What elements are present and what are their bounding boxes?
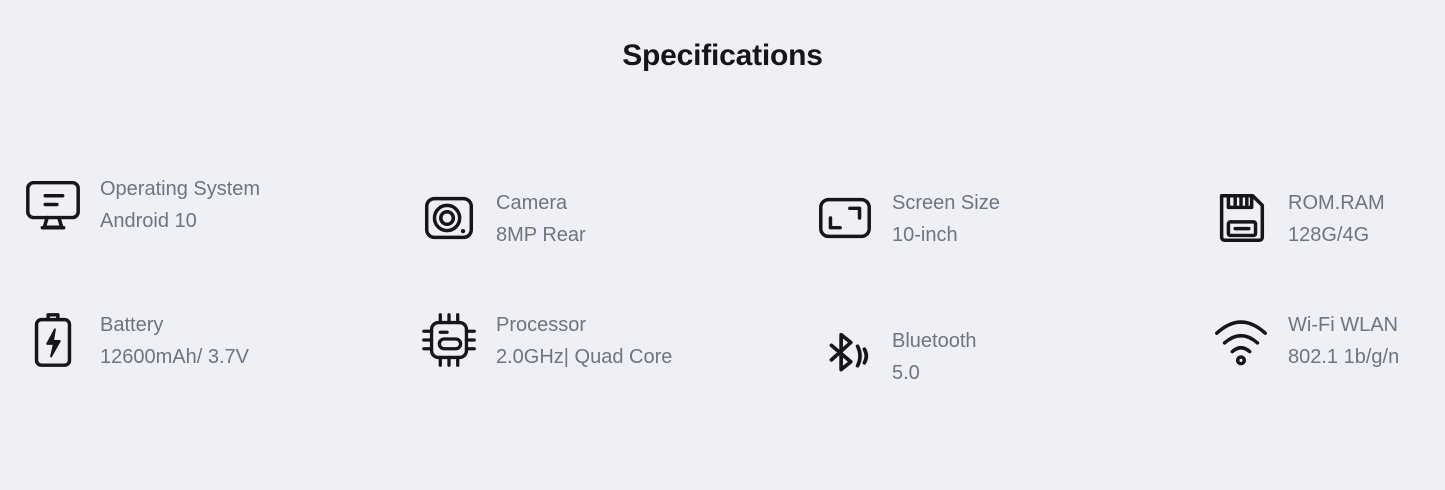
spec-value: 12600mAh/ 3.7V: [100, 341, 249, 373]
specifications-page: Specifications Operating System Android …: [0, 0, 1445, 490]
spec-text-camera: Camera 8MP Rear: [496, 187, 586, 251]
spec-label: Screen Size: [892, 187, 1000, 219]
spec-label: Camera: [496, 187, 586, 219]
processor-chip-icon: [418, 309, 480, 371]
spec-label: ROM.RAM: [1288, 187, 1385, 219]
floppy-disk-icon: [1210, 187, 1272, 249]
spec-item-rom-ram: ROM.RAM 128G/4G: [1210, 165, 1445, 301]
spec-item-battery: Battery 12600mAh/ 3.7V: [22, 301, 418, 437]
spec-text-processor: Processor 2.0GHz| Quad Core: [496, 309, 672, 373]
wifi-icon: [1210, 309, 1272, 371]
spec-label: Operating System: [100, 173, 260, 205]
spec-value: 8MP Rear: [496, 219, 586, 251]
spec-text-operating-system: Operating System Android 10: [100, 173, 260, 237]
page-title: Specifications: [0, 36, 1445, 76]
spec-value: 128G/4G: [1288, 219, 1385, 251]
battery-icon: [22, 309, 84, 371]
camera-icon: [418, 187, 480, 249]
spec-text-wifi: Wi-Fi WLAN 802.1 1b/g/n: [1288, 309, 1399, 373]
spec-label: Processor: [496, 309, 672, 341]
spec-item-camera: Camera 8MP Rear: [418, 165, 814, 301]
spec-item-wifi: Wi-Fi WLAN 802.1 1b/g/n: [1210, 301, 1445, 437]
spec-item-processor: Processor 2.0GHz| Quad Core: [418, 301, 814, 437]
screen-size-icon: [814, 187, 876, 249]
monitor-icon: [22, 173, 84, 235]
spec-label: Battery: [100, 309, 249, 341]
spec-value: 2.0GHz| Quad Core: [496, 341, 672, 373]
spec-value: 5.0: [892, 357, 977, 389]
spec-text-bluetooth: Bluetooth 5.0: [892, 325, 977, 389]
spec-text-battery: Battery 12600mAh/ 3.7V: [100, 309, 249, 373]
spec-value: Android 10: [100, 205, 260, 237]
spec-item-operating-system: Operating System Android 10: [22, 165, 418, 301]
spec-item-bluetooth: Bluetooth 5.0: [814, 301, 1210, 437]
specifications-grid: Operating System Android 10 Camera 8MP R…: [0, 165, 1445, 437]
spec-label: Wi-Fi WLAN: [1288, 309, 1399, 341]
spec-value: 802.1 1b/g/n: [1288, 341, 1399, 373]
spec-text-rom-ram: ROM.RAM 128G/4G: [1288, 187, 1385, 251]
bluetooth-icon: [814, 325, 876, 387]
spec-value: 10-inch: [892, 219, 1000, 251]
spec-label: Bluetooth: [892, 325, 977, 357]
spec-item-screen-size: Screen Size 10-inch: [814, 165, 1210, 301]
spec-text-screen-size: Screen Size 10-inch: [892, 187, 1000, 251]
